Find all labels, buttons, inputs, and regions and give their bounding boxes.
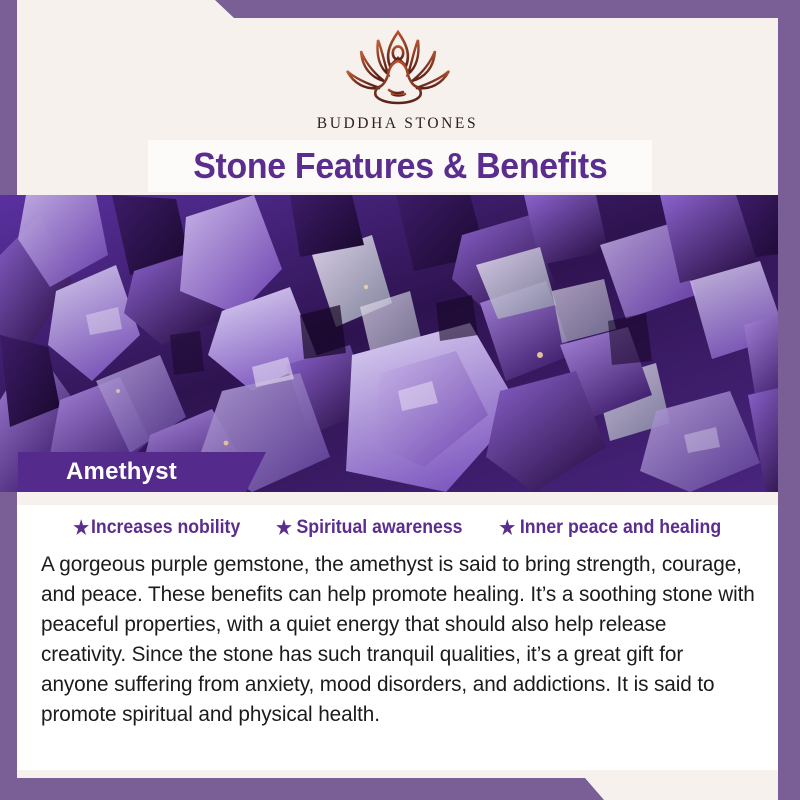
frame-right-accent [778,0,800,800]
amethyst-photo [0,195,800,492]
star-icon: ★ [500,519,516,538]
stone-name-banner: Amethyst [18,452,266,492]
benefit-item: ★ Increases nobility [73,517,240,539]
page-title: Stone Features & Benefits [193,145,607,187]
stone-info-card: BUDDHA STONES Stone Features & Benefits [0,0,800,800]
benefits-list: ★ Increases nobility ★ Spiritual awarene… [41,517,756,539]
content-divider-strip [17,492,778,505]
star-icon: ★ [73,519,89,538]
star-icon: ★ [276,519,292,538]
stone-name-label: Amethyst [66,458,177,486]
card-content: ★ Increases nobility ★ Spiritual awarene… [17,505,778,770]
lotus-meditation-icon [342,26,454,112]
benefit-label: Increases nobility [91,517,240,539]
benefit-label: Spiritual awareness [296,517,462,539]
benefit-item: ★ Spiritual awareness [276,517,462,539]
stone-description: A gorgeous purple gemstone, the amethyst… [41,549,755,729]
brand-name: BUDDHA STONES [317,115,478,133]
title-banner: Stone Features & Benefits [148,140,652,192]
benefit-label: Inner peace and healing [520,517,721,539]
amethyst-crystal-illustration [0,195,800,492]
brand-logo: BUDDHA STONES [17,26,778,133]
frame-bottom-accent [0,778,800,800]
benefit-item: ★ Inner peace and healing [500,517,722,539]
